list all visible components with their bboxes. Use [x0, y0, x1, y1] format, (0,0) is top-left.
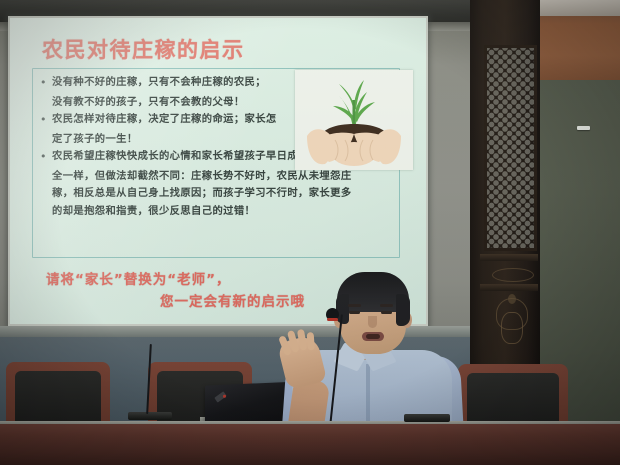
bullet-line: 全一样，但做法却截然不同：庄稼长势不好时，农民从未埋怨庄 [40, 168, 396, 186]
podium-microphone-left [128, 412, 172, 420]
microphone-red-ring [327, 318, 338, 321]
conference-chair [458, 364, 568, 426]
thinkpad-logo-dot-icon [223, 395, 226, 398]
ceiling-right [538, 0, 620, 16]
podium-desk [0, 424, 620, 465]
bullet-line: 没有种不好的庄稼，只有不会种庄稼的农民； [52, 74, 266, 92]
slide-title: 农民对待庄稼的启示 [42, 34, 245, 64]
bullet-line: 的却是抱怨和指责，很少反思自己的过错！ [40, 203, 396, 221]
podium-microphone-center [404, 414, 450, 422]
eyebrow-right [380, 304, 393, 307]
bullet-marker: • [40, 74, 52, 92]
bullet-marker: • [40, 148, 52, 166]
nose [368, 316, 377, 328]
bullet-line: 稼，相反总是从自己身上找原因；而孩子学习不行时，家长更多 [40, 185, 396, 203]
photograph-scene: 农民对待庄稼的启示 • 没有种不好的庄稼，只有不会种庄稼的农民； 没有教不好的孩… [0, 0, 620, 465]
eye-left [349, 311, 360, 314]
bullet-line: 农民怎样对待庄稼，决定了庄稼的命运；家长怎 [52, 111, 277, 129]
lattice-frame [484, 45, 537, 251]
hands-holding-seedling-photo [295, 70, 413, 170]
bullet-marker: • [40, 111, 52, 129]
mouth-opening [366, 334, 380, 339]
wood-oval-carving [492, 268, 534, 282]
wood-rail-upper [480, 254, 538, 261]
conference-chair [6, 362, 110, 424]
eyebrow-left [348, 304, 361, 307]
eye-right [381, 311, 392, 314]
slide-emphasis-line-1: 请将“家长”替换为“老师”， [46, 268, 231, 288]
hair-side-right [396, 294, 410, 326]
wood-floral-carving [487, 292, 537, 354]
wood-rail-lower [480, 284, 538, 291]
wall-label-plate [577, 126, 590, 130]
